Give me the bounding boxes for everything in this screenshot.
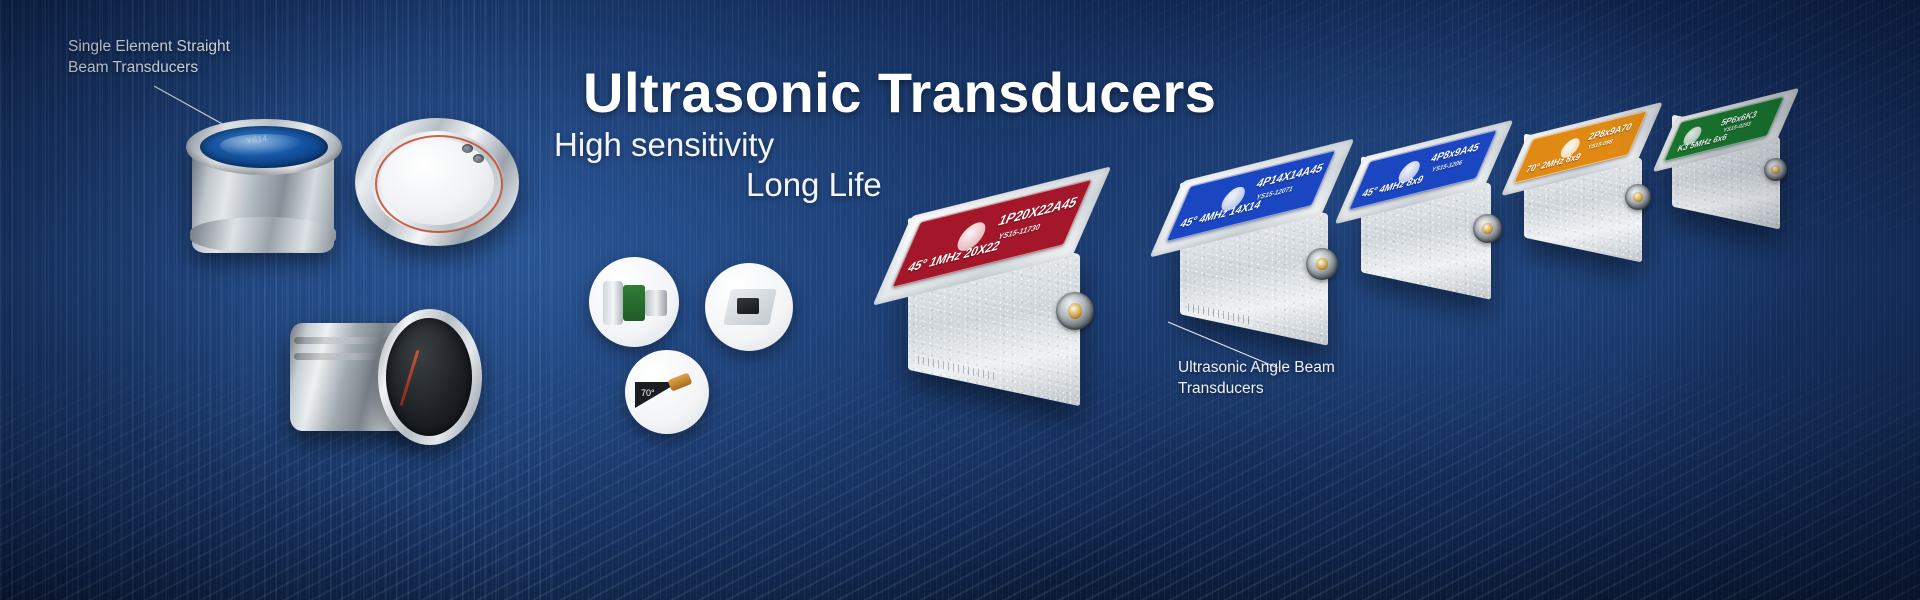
transducer-dark-face xyxy=(386,318,472,436)
straight-beam-transducer-barrel xyxy=(290,305,480,455)
probe-connector xyxy=(1625,184,1651,210)
thumb-part-green-block xyxy=(623,285,645,321)
probe-connector xyxy=(1306,248,1338,280)
caption-straight-beam: Single Element Straight Beam Transducers xyxy=(68,36,230,78)
transducer-blue-face xyxy=(200,126,328,168)
thumb-part-gold-connector xyxy=(668,372,693,391)
thumb-part-connector xyxy=(645,290,667,316)
transducer-white-face xyxy=(380,139,494,225)
thumbnail-black-wedge xyxy=(705,263,793,351)
straight-beam-transducer-cylinder: YS14 xyxy=(186,105,368,265)
subtitle-high-sensitivity: High sensitivity xyxy=(554,126,774,164)
thumbnail-angle-wedge: 70° xyxy=(625,350,709,434)
caption-angle-beam: Ultrasonic Angle Beam Transducers xyxy=(1178,357,1335,399)
thumb-part-housing xyxy=(603,281,623,325)
probe-connector xyxy=(1056,292,1094,330)
probe-connector xyxy=(1764,158,1787,181)
page-title: Ultrasonic Transducers xyxy=(583,60,1216,125)
thumb-angle-label: 70° xyxy=(641,388,655,398)
straight-beam-transducer-disc xyxy=(355,118,537,268)
transducer-screw-hole xyxy=(462,144,473,153)
probe-connector xyxy=(1473,214,1502,243)
angle-beam-probe-blue-large: 4P14X14A45 YS15-12071 45° 4MHz 14X14 xyxy=(1162,160,1412,375)
subtitle-long-life: Long Life xyxy=(746,166,882,204)
angle-beam-probe-red: 1P20X22A45 YS15-11730 45° 1MHz 20X22 xyxy=(888,192,1178,442)
product-banner: Single Element Straight Beam Transducers… xyxy=(0,0,1920,600)
transducer-base-ring xyxy=(190,217,336,253)
transducer-screw-hole xyxy=(473,154,484,163)
thumbnail-green-probe xyxy=(589,257,679,347)
thumb-part-crystal xyxy=(737,298,759,314)
